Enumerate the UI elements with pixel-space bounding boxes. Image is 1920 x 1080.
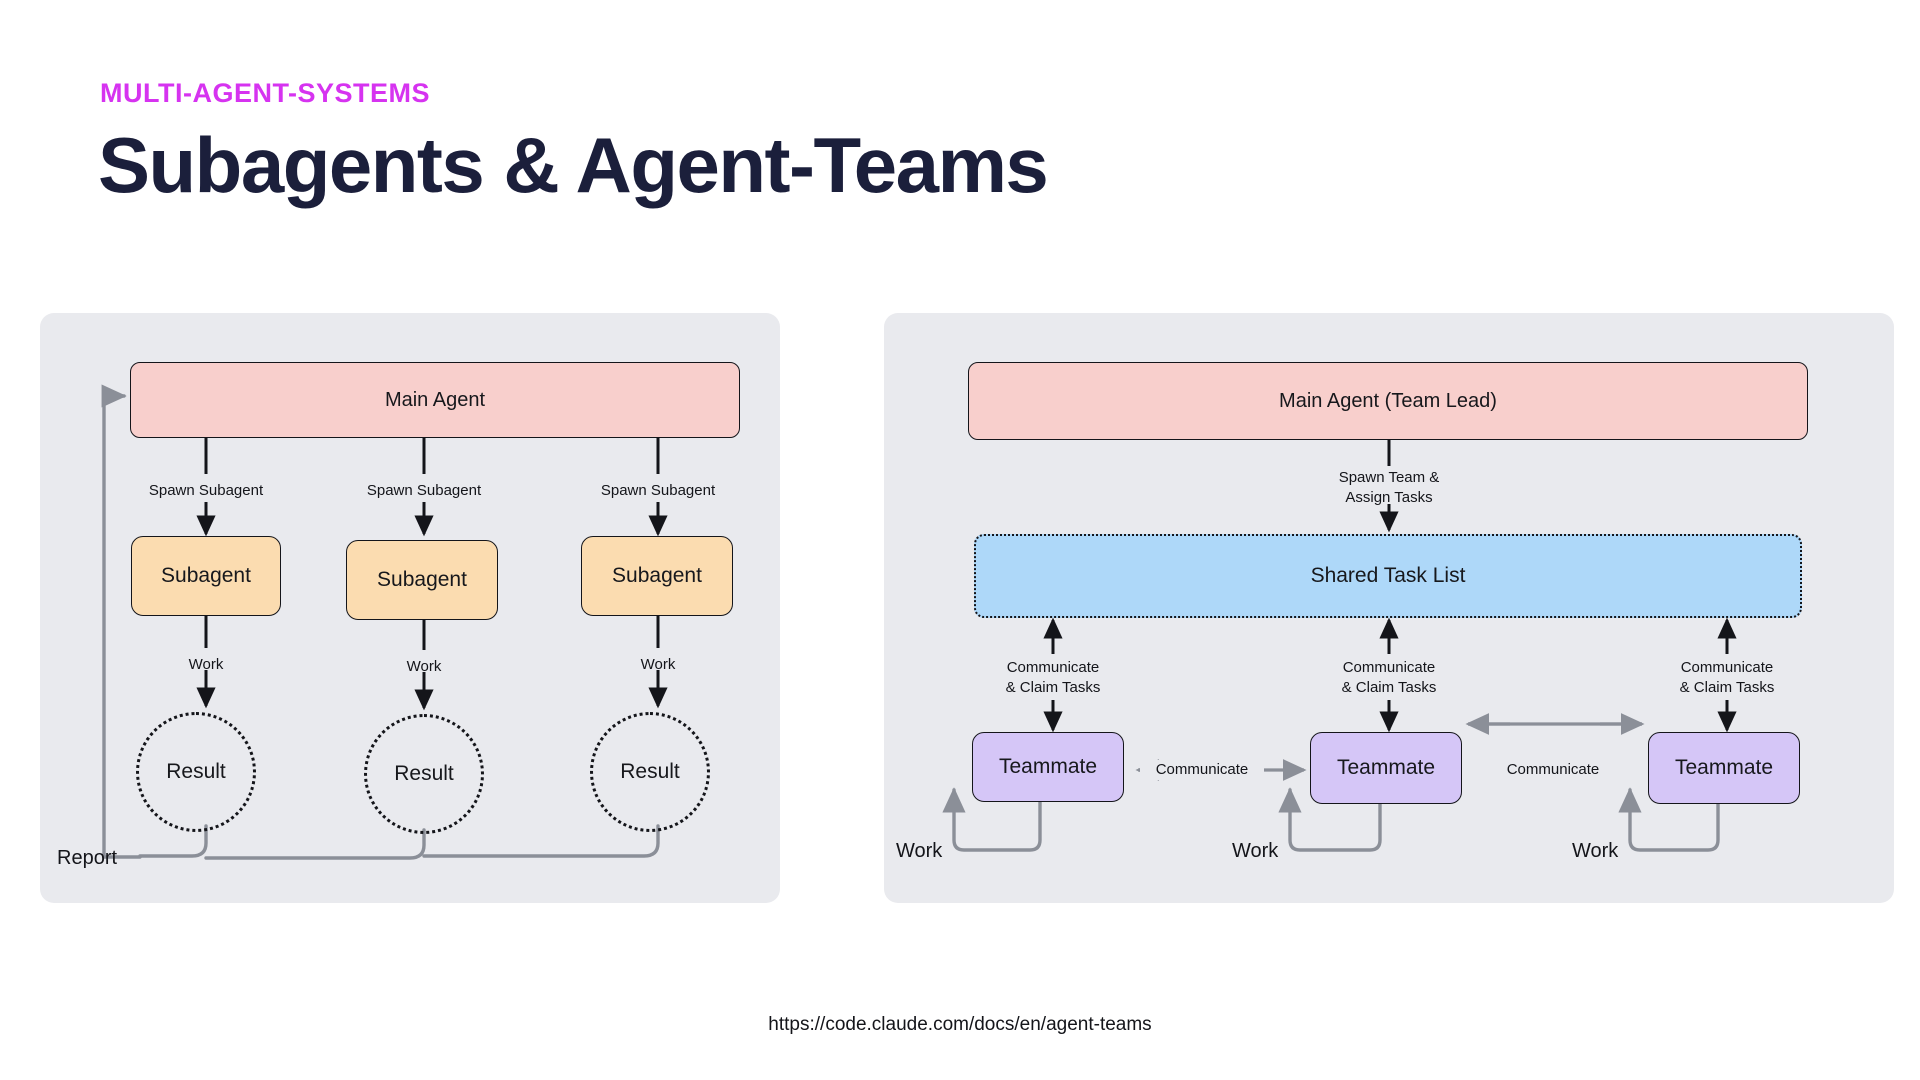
subagent-label-3: Subagent: [612, 563, 702, 588]
teammate-label-1: Teammate: [999, 754, 1097, 779]
page-eyebrow: MULTI-AGENT-SYSTEMS: [100, 78, 430, 109]
teammate-node-2[interactable]: Teammate: [1310, 732, 1462, 804]
subagent-node-3[interactable]: Subagent: [581, 536, 733, 616]
footer-url: https://code.claude.com/docs/en/agent-te…: [0, 1014, 1920, 1036]
subagent-label-2: Subagent: [377, 567, 467, 592]
subagent-label-1: Subagent: [161, 563, 251, 588]
shared-task-list-label: Shared Task List: [1311, 563, 1466, 588]
subagent-node-2[interactable]: Subagent: [346, 540, 498, 620]
result-label-1: Result: [166, 759, 226, 784]
right-main-agent-label: Main Agent (Team Lead): [1279, 389, 1497, 413]
teammate-label-3: Teammate: [1675, 755, 1773, 780]
result-label-2: Result: [394, 761, 454, 786]
teammate-node-1[interactable]: Teammate: [972, 732, 1124, 802]
page-title: Subagents & Agent-Teams: [98, 120, 1047, 211]
left-main-agent-node[interactable]: Main Agent: [130, 362, 740, 438]
result-node-1: Result: [136, 712, 256, 832]
teammate-node-3[interactable]: Teammate: [1648, 732, 1800, 804]
left-main-agent-label: Main Agent: [385, 388, 485, 412]
subagent-node-1[interactable]: Subagent: [131, 536, 281, 616]
shared-task-list-node[interactable]: Shared Task List: [974, 534, 1802, 618]
result-node-2: Result: [364, 714, 484, 834]
result-label-3: Result: [620, 759, 680, 784]
result-node-3: Result: [590, 712, 710, 832]
teammate-label-2: Teammate: [1337, 755, 1435, 780]
right-main-agent-node[interactable]: Main Agent (Team Lead): [968, 362, 1808, 440]
